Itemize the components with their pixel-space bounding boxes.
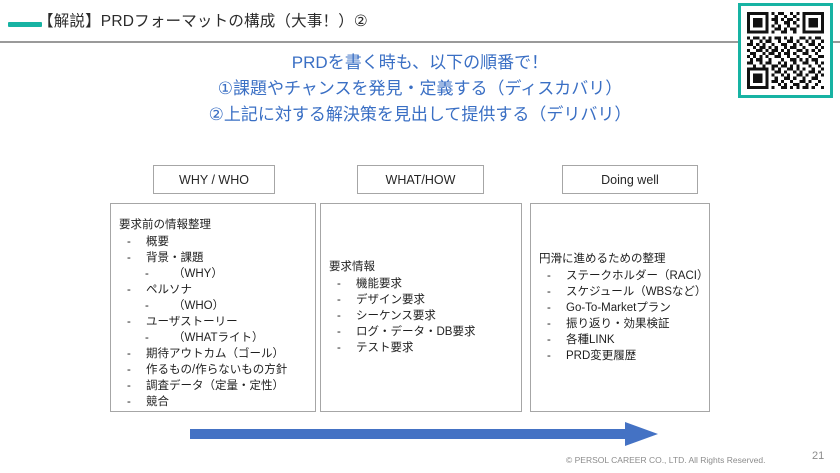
content-box-what-how: 要求情報 -機能要求-デザイン要求-シーケンス要求-ログ・データ・DB要求-テス…	[320, 203, 522, 412]
list-item-label: 機能要求	[356, 276, 402, 292]
list-item: -競合	[119, 394, 307, 410]
bullet-dash: -	[127, 346, 137, 362]
box-heading: 要求前の情報整理	[119, 217, 307, 233]
list-item: -（WHATライト）	[119, 330, 307, 346]
list-item-label: 各種LINK	[566, 332, 615, 348]
list-item: -期待アウトカム（ゴール）	[119, 346, 307, 362]
column-header-label: WHAT/HOW	[386, 173, 456, 187]
bullet-dash: -	[127, 282, 137, 298]
bullet-dash: -	[127, 314, 137, 330]
bullet-dash: -	[127, 362, 137, 378]
content-box-doing-well: 円滑に進めるための整理 -ステークホルダー（RACI）-スケジュール（WBSなど…	[530, 203, 710, 412]
list-item-label: ペルソナ	[146, 282, 192, 298]
item-list: -概要-背景・課題-（WHY）-ペルソナ-（WHO）-ユーザストーリー-（WHA…	[119, 234, 307, 410]
bullet-dash: -	[127, 250, 137, 266]
list-item: -各種LINK	[539, 332, 701, 348]
list-item-label: 期待アウトカム（ゴール）	[146, 346, 284, 362]
list-item-label: 振り返り・効果検証	[566, 316, 670, 332]
column-header-why-who[interactable]: WHY / WHO	[153, 165, 275, 194]
list-item-label: （WHATライト）	[173, 330, 264, 346]
subtitle-line-2: ①課題やチャンスを発見・定義する（ディスカバリ）	[0, 76, 840, 102]
column-header-what-how[interactable]: WHAT/HOW	[357, 165, 484, 194]
item-list: -機能要求-デザイン要求-シーケンス要求-ログ・データ・DB要求-テスト要求	[329, 276, 513, 356]
list-item: -シーケンス要求	[329, 308, 513, 324]
list-item-label: 作るもの/作らないもの方針	[146, 362, 287, 378]
list-item: -概要	[119, 234, 307, 250]
box-heading: 円滑に進めるための整理	[539, 251, 701, 267]
list-item: -（WHO）	[119, 298, 307, 314]
bullet-dash: -	[547, 348, 557, 364]
bullet-dash: -	[547, 268, 557, 284]
list-item-label: PRD変更履歴	[566, 348, 636, 364]
item-list: -ステークホルダー（RACI）-スケジュール（WBSなど）-Go-To-Mark…	[539, 268, 701, 364]
bullet-dash: -	[337, 292, 347, 308]
header-divider	[0, 41, 840, 43]
right-arrow-icon	[190, 421, 660, 447]
list-item: -PRD変更履歴	[539, 348, 701, 364]
bullet-dash: -	[547, 332, 557, 348]
bullet-dash: -	[127, 394, 137, 410]
subtitle-block: PRDを書く時も、以下の順番で！ ①課題やチャンスを発見・定義する（ディスカバリ…	[0, 50, 840, 128]
list-item: -スケジュール（WBSなど）	[539, 284, 701, 300]
list-item: -ログ・データ・DB要求	[329, 324, 513, 340]
bullet-dash: -	[337, 276, 347, 292]
subtitle-line-3: ②上記に対する解決策を見出して提供する（デリバリ）	[0, 102, 840, 128]
column-header-label: WHY / WHO	[179, 173, 249, 187]
box-heading: 要求情報	[329, 259, 513, 275]
bullet-dash: -	[337, 324, 347, 340]
list-item: -振り返り・効果検証	[539, 316, 701, 332]
list-item: -背景・課題	[119, 250, 307, 266]
list-item: -作るもの/作らないもの方針	[119, 362, 307, 378]
column-header-label: Doing well	[601, 173, 659, 187]
list-item: -機能要求	[329, 276, 513, 292]
list-item-label: シーケンス要求	[356, 308, 436, 324]
list-item: -調査データ（定量・定性）	[119, 378, 307, 394]
list-item-label: ユーザストーリー	[146, 314, 238, 330]
bullet-dash: -	[145, 330, 155, 346]
list-item-label: 調査データ（定量・定性）	[146, 378, 284, 394]
list-item: -ステークホルダー（RACI）	[539, 268, 701, 284]
process-flow-arrow	[190, 421, 660, 447]
list-item: -ペルソナ	[119, 282, 307, 298]
page-number: 21	[812, 450, 824, 462]
page-title: 【解説】PRDフォーマットの構成（大事！）②	[38, 9, 368, 31]
list-item-label: スケジュール（WBSなど）	[566, 284, 706, 300]
list-item-label: （WHO）	[173, 298, 224, 314]
bullet-dash: -	[547, 316, 557, 332]
bullet-dash: -	[547, 284, 557, 300]
accent-bar	[8, 22, 42, 27]
list-item-label: デザイン要求	[356, 292, 425, 308]
list-item: -デザイン要求	[329, 292, 513, 308]
copyright-text: © PERSOL CAREER CO., LTD. All Rights Res…	[566, 455, 765, 465]
bullet-dash: -	[547, 300, 557, 316]
list-item: -（WHY）	[119, 266, 307, 282]
bullet-dash: -	[127, 234, 137, 250]
list-item-label: ステークホルダー（RACI）	[566, 268, 708, 284]
content-box-why-who: 要求前の情報整理 -概要-背景・課題-（WHY）-ペルソナ-（WHO）-ユーザス…	[110, 203, 316, 412]
slide: 【解説】PRDフォーマットの構成（大事！）②	[0, 0, 840, 473]
list-item: -ユーザストーリー	[119, 314, 307, 330]
list-item: -テスト要求	[329, 340, 513, 356]
subtitle-line-1: PRDを書く時も、以下の順番で！	[0, 50, 840, 76]
list-item-label: 概要	[146, 234, 169, 250]
bullet-dash: -	[127, 378, 137, 394]
list-item-label: 競合	[146, 394, 169, 410]
list-item-label: 背景・課題	[146, 250, 204, 266]
bullet-dash: -	[145, 266, 155, 282]
list-item: -Go-To-Marketプラン	[539, 300, 701, 316]
bullet-dash: -	[145, 298, 155, 314]
list-item-label: テスト要求	[356, 340, 414, 356]
column-header-doing-well[interactable]: Doing well	[562, 165, 698, 194]
list-item-label: （WHY）	[173, 266, 223, 282]
list-item-label: Go-To-Marketプラン	[566, 300, 671, 316]
bullet-dash: -	[337, 340, 347, 356]
bullet-dash: -	[337, 308, 347, 324]
list-item-label: ログ・データ・DB要求	[356, 324, 475, 340]
